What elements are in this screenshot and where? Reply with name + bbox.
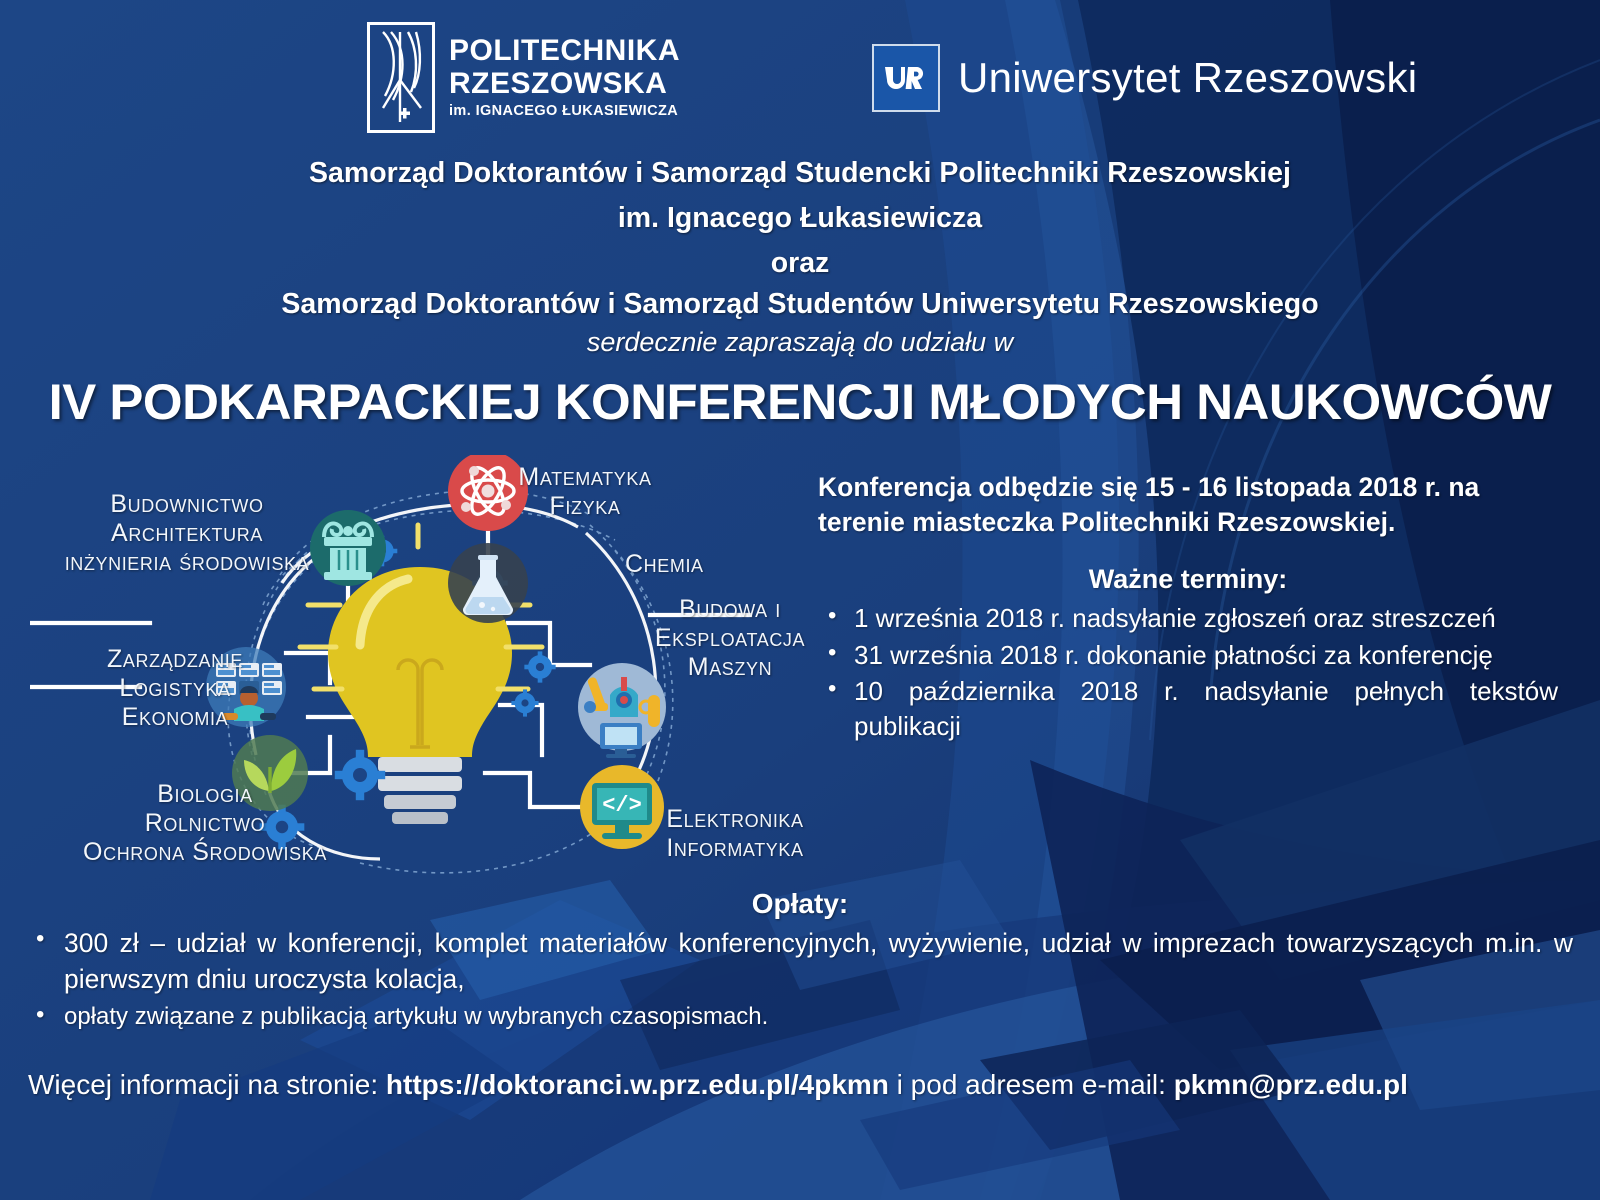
- organizer-line-2: im. Ignacego Łukasiewicza: [0, 202, 1600, 235]
- fees-section: 300 zł – udział w konferencji, komplet m…: [28, 925, 1573, 1038]
- contact-prefix: Więcej informacji na stronie:: [28, 1069, 386, 1100]
- disciplines-infographic: </> Budownictwo Architektura inżynieria …: [30, 455, 830, 885]
- deadlines-heading: Ważne terminy:: [818, 564, 1558, 595]
- topic-label-maszyny: Budowa i Eksploatacja Maszyn: [630, 595, 830, 682]
- prz-logo-line2: RZESZOWSKA: [449, 69, 680, 99]
- contact-email-link[interactable]: pkmn@prz.edu.pl: [1174, 1069, 1408, 1100]
- topic-label-biologia: Biologia Rolnictwo Ochrona Środowiska: [60, 780, 350, 867]
- topic-label-zarzadzanie: Zarządzanie Logistyka Ekonomia: [60, 645, 290, 732]
- fees-list: 300 zł – udział w konferencji, komplet m…: [28, 925, 1573, 1034]
- ur-emblem-icon: [872, 44, 940, 112]
- list-item: 1 września 2018 r. nadsyłanie zgłoszeń o…: [818, 601, 1558, 636]
- conference-poster: POLITECHNIKA RZESZOWSKA im. IGNACEGO ŁUK…: [0, 0, 1600, 1200]
- page-title: IV PODKARPACKIEJ KONFERENCJI MŁODYCH NAU…: [0, 373, 1600, 431]
- list-item: 300 zł – udział w konferencji, komplet m…: [28, 925, 1573, 997]
- conference-website-link[interactable]: https://doktoranci.w.prz.edu.pl/4pkmn: [386, 1069, 889, 1100]
- uniwersytet-rzeszowski-logo: Uniwersytet Rzeszowski: [872, 44, 1417, 112]
- conference-dates: Konferencja odbędzie się 15 - 16 listopa…: [818, 470, 1558, 540]
- list-item: 31 września 2018 r. dokonanie płatności …: [818, 638, 1558, 673]
- topic-label-budownictwo: Budownictwo Architektura inżynieria środ…: [52, 490, 322, 577]
- prz-logo-line3: im. IGNACEGO ŁUKASIEWICZA: [449, 104, 680, 119]
- list-item: 10 października 2018 r. nadsyłanie pełny…: [818, 674, 1558, 743]
- organizer-line-3: oraz: [0, 247, 1600, 280]
- invitation-text: serdecznie zapraszają do udziału w: [0, 327, 1600, 358]
- conference-dates-line2: terenie miasteczka Politechniki Rzeszows…: [818, 505, 1558, 540]
- list-item: opłaty związane z publikacją artykułu w …: [28, 1001, 1573, 1034]
- prz-logo-line1: POLITECHNIKA: [449, 36, 680, 66]
- deadlines-list: 1 września 2018 r. nadsyłanie zgłoszeń o…: [818, 601, 1558, 743]
- conference-details: Konferencja odbędzie się 15 - 16 listopa…: [818, 470, 1558, 745]
- ur-logo-name: Uniwersytet Rzeszowski: [958, 54, 1417, 102]
- contact-middle: i pod adresem e-mail:: [889, 1069, 1174, 1100]
- contact-line: Więcej informacji na stronie: https://do…: [28, 1065, 1576, 1106]
- topic-label-matematyka: Matematyka Fizyka: [470, 463, 700, 521]
- topic-label-chemia: Chemia: [625, 550, 815, 579]
- topic-label-elektronika: Elektronika Informatyka: [630, 805, 840, 863]
- politechnika-rzeszowska-emblem-icon: [367, 22, 435, 133]
- organizer-line-4: Samorząd Doktorantów i Samorząd Studentó…: [0, 288, 1600, 321]
- flask-icon: [448, 543, 528, 623]
- fees-heading: Opłaty:: [0, 888, 1600, 920]
- organizer-line-1: Samorząd Doktorantów i Samorząd Studenck…: [0, 157, 1600, 190]
- politechnika-rzeszowska-logo: POLITECHNIKA RZESZOWSKA im. IGNACEGO ŁUK…: [367, 22, 680, 133]
- logo-bar: POLITECHNIKA RZESZOWSKA im. IGNACEGO ŁUK…: [0, 0, 1600, 150]
- conference-dates-line1: Konferencja odbędzie się 15 - 16 listopa…: [818, 470, 1558, 505]
